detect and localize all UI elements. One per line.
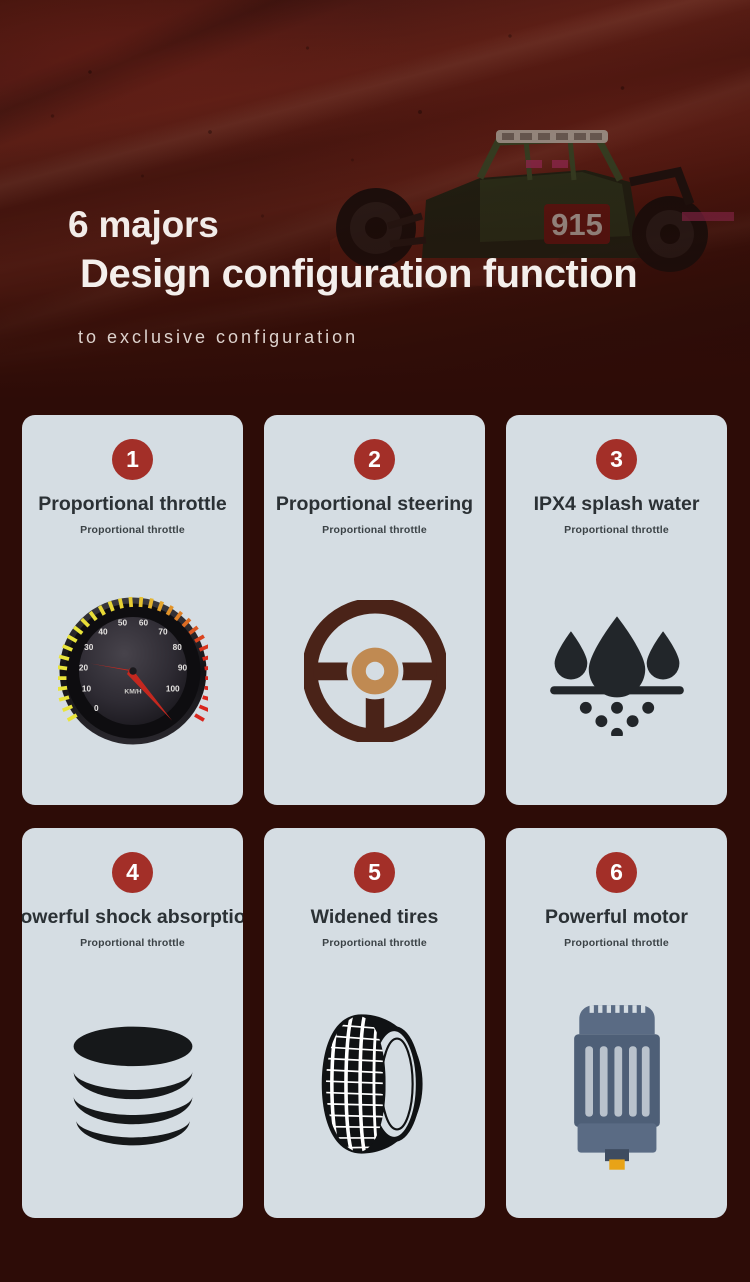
card-icon-area: 0 10 20 30 40 50 60 70 80 90 100 KM/H [22, 536, 243, 805]
svg-text:50: 50 [117, 618, 127, 627]
card-icon-area [264, 949, 485, 1218]
feature-card-powerful-shock-absorption[interactable]: 4 Powerful shock absorption Proportional… [22, 828, 243, 1218]
gauge-unit-label: KM/H [124, 688, 141, 695]
card-icon-area [264, 536, 485, 805]
card-subtitle: Proportional throttle [564, 524, 669, 536]
card-subtitle: Proportional throttle [322, 937, 427, 949]
card-icon-area [506, 949, 727, 1218]
feature-card-ipx4-splash-water[interactable]: 3 IPX4 splash water Proportional throttl… [506, 415, 727, 805]
card-number-badge: 5 [354, 852, 395, 893]
feature-card-proportional-steering[interactable]: 2 Proportional steering Proportional thr… [264, 415, 485, 805]
electric-motor-icon [557, 998, 677, 1170]
card-icon-area [506, 536, 727, 805]
page-title-line-1: 6 majors [68, 206, 750, 243]
svg-text:90: 90 [177, 663, 187, 672]
svg-text:80: 80 [172, 643, 182, 652]
feature-card-widened-tires[interactable]: 5 Widened tires Proportional throttle [264, 828, 485, 1218]
hero-headings: 6 majors Design configuration function t… [0, 0, 750, 348]
svg-text:30: 30 [84, 643, 94, 652]
page-title-line-2: Design configuration function [80, 254, 750, 294]
steering-wheel-icon [304, 600, 446, 742]
svg-text:70: 70 [158, 627, 168, 636]
card-title: Widened tires [311, 907, 439, 928]
card-number-badge: 1 [112, 439, 153, 480]
card-number-badge: 6 [596, 852, 637, 893]
card-number-badge: 4 [112, 852, 153, 893]
card-title: Powerful shock absorption [22, 907, 243, 928]
feature-card-grid: 1 Proportional throttle Proportional thr… [0, 415, 750, 1218]
coil-spring-shock-icon [67, 1021, 199, 1147]
card-title: Proportional throttle [38, 494, 227, 515]
feature-card-powerful-motor[interactable]: 6 Powerful motor Proportional throttle [506, 828, 727, 1218]
tire-icon [314, 1013, 436, 1155]
card-title: IPX4 splash water [534, 494, 700, 515]
svg-text:100: 100 [165, 684, 179, 693]
card-number-badge: 3 [596, 439, 637, 480]
svg-text:40: 40 [98, 627, 108, 636]
card-subtitle: Proportional throttle [80, 937, 185, 949]
svg-text:20: 20 [78, 663, 88, 672]
card-subtitle: Proportional throttle [80, 524, 185, 536]
svg-text:0: 0 [93, 703, 98, 712]
card-number-badge: 2 [354, 439, 395, 480]
card-icon-area [22, 949, 243, 1218]
svg-text:10: 10 [81, 684, 91, 693]
page-subtitle: to exclusive configuration [78, 327, 750, 348]
feature-card-proportional-throttle[interactable]: 1 Proportional throttle Proportional thr… [22, 415, 243, 805]
speedometer-gauge-icon: 0 10 20 30 40 50 60 70 80 90 100 KM/H [58, 596, 208, 746]
water-splash-ipx4-icon [542, 606, 692, 736]
svg-text:60: 60 [138, 618, 148, 627]
card-subtitle: Proportional throttle [564, 937, 669, 949]
card-title: Proportional steering [276, 494, 473, 515]
card-subtitle: Proportional throttle [322, 524, 427, 536]
card-title: Powerful motor [545, 907, 688, 928]
